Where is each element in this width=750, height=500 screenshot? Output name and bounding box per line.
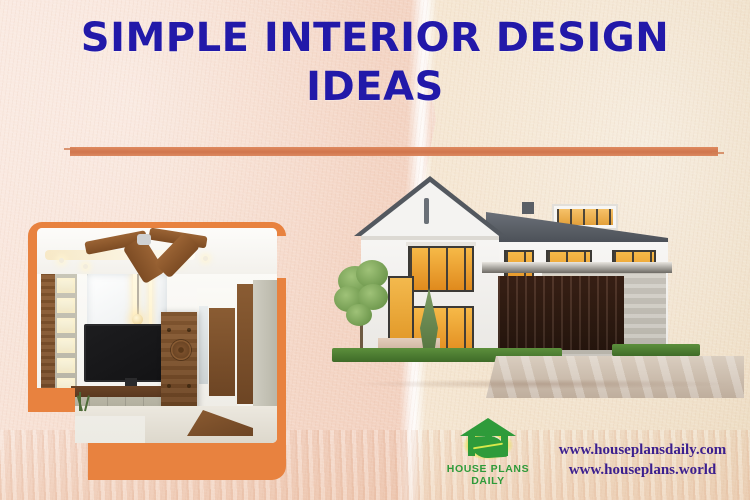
gable-roof-face: [361, 182, 499, 236]
pendant-cord: [137, 272, 139, 316]
door-stud: [167, 328, 171, 332]
gable-trim-band: [361, 236, 499, 240]
chimney: [522, 202, 534, 214]
wood-wall-panel: [41, 272, 56, 402]
right-grey-column: [253, 280, 277, 410]
shelf-cell: [57, 338, 75, 353]
ground-shadow: [346, 379, 736, 389]
hallway-mirror: [199, 306, 208, 384]
carved-wooden-door: [161, 312, 197, 412]
url-primary[interactable]: www.houseplansdaily.com: [540, 440, 745, 460]
gable-vent: [424, 198, 429, 224]
brand-name-line-1: HOUSE PLANS: [440, 463, 536, 475]
page-title: SIMPLE INTERIOR DESIGN IDEAS: [0, 14, 750, 112]
driveway: [486, 356, 744, 398]
brand-logo: HOUSE PLANS DAILY: [440, 418, 536, 496]
plant-icon: [73, 391, 91, 411]
title-divider-rule: [70, 147, 718, 156]
hallway-door: [209, 308, 235, 396]
downlight-icon: [59, 258, 64, 263]
brand-name-line-2: DAILY: [440, 475, 536, 487]
dormer-window: [557, 209, 613, 225]
shelf-cell: [57, 298, 75, 313]
shelf-cell: [57, 358, 75, 373]
side-lawn: [612, 344, 700, 356]
gable-upper-window: [408, 246, 474, 292]
door-stud: [187, 328, 191, 332]
ceiling-fan-hub: [137, 234, 151, 245]
downlight-icon: [203, 256, 208, 261]
shelf-cell: [57, 278, 75, 293]
door-stud: [167, 384, 171, 388]
garage-canopy: [482, 262, 672, 273]
logo-drop: [485, 431, 492, 441]
house-leaf-logo-icon: [457, 418, 519, 462]
door-stud: [187, 384, 191, 388]
shelf-cell: [57, 318, 75, 333]
door-medallion-icon: [171, 340, 191, 360]
url-secondary[interactable]: www.houseplans.world: [540, 460, 745, 480]
downlight-icon: [83, 264, 88, 269]
tree-canopy: [346, 304, 372, 326]
tree-icon: [334, 260, 392, 356]
page-title-line-1: SIMPLE INTERIOR DESIGN: [0, 14, 750, 63]
garage-door: [498, 276, 624, 350]
poster-canvas: SIMPLE INTERIOR DESIGN IDEAS: [0, 0, 750, 500]
page-title-line-2: IDEAS: [0, 63, 750, 112]
website-urls: www.houseplansdaily.com www.houseplans.w…: [540, 440, 745, 481]
right-wood-column: [237, 284, 253, 404]
house-photo: [336, 168, 744, 403]
